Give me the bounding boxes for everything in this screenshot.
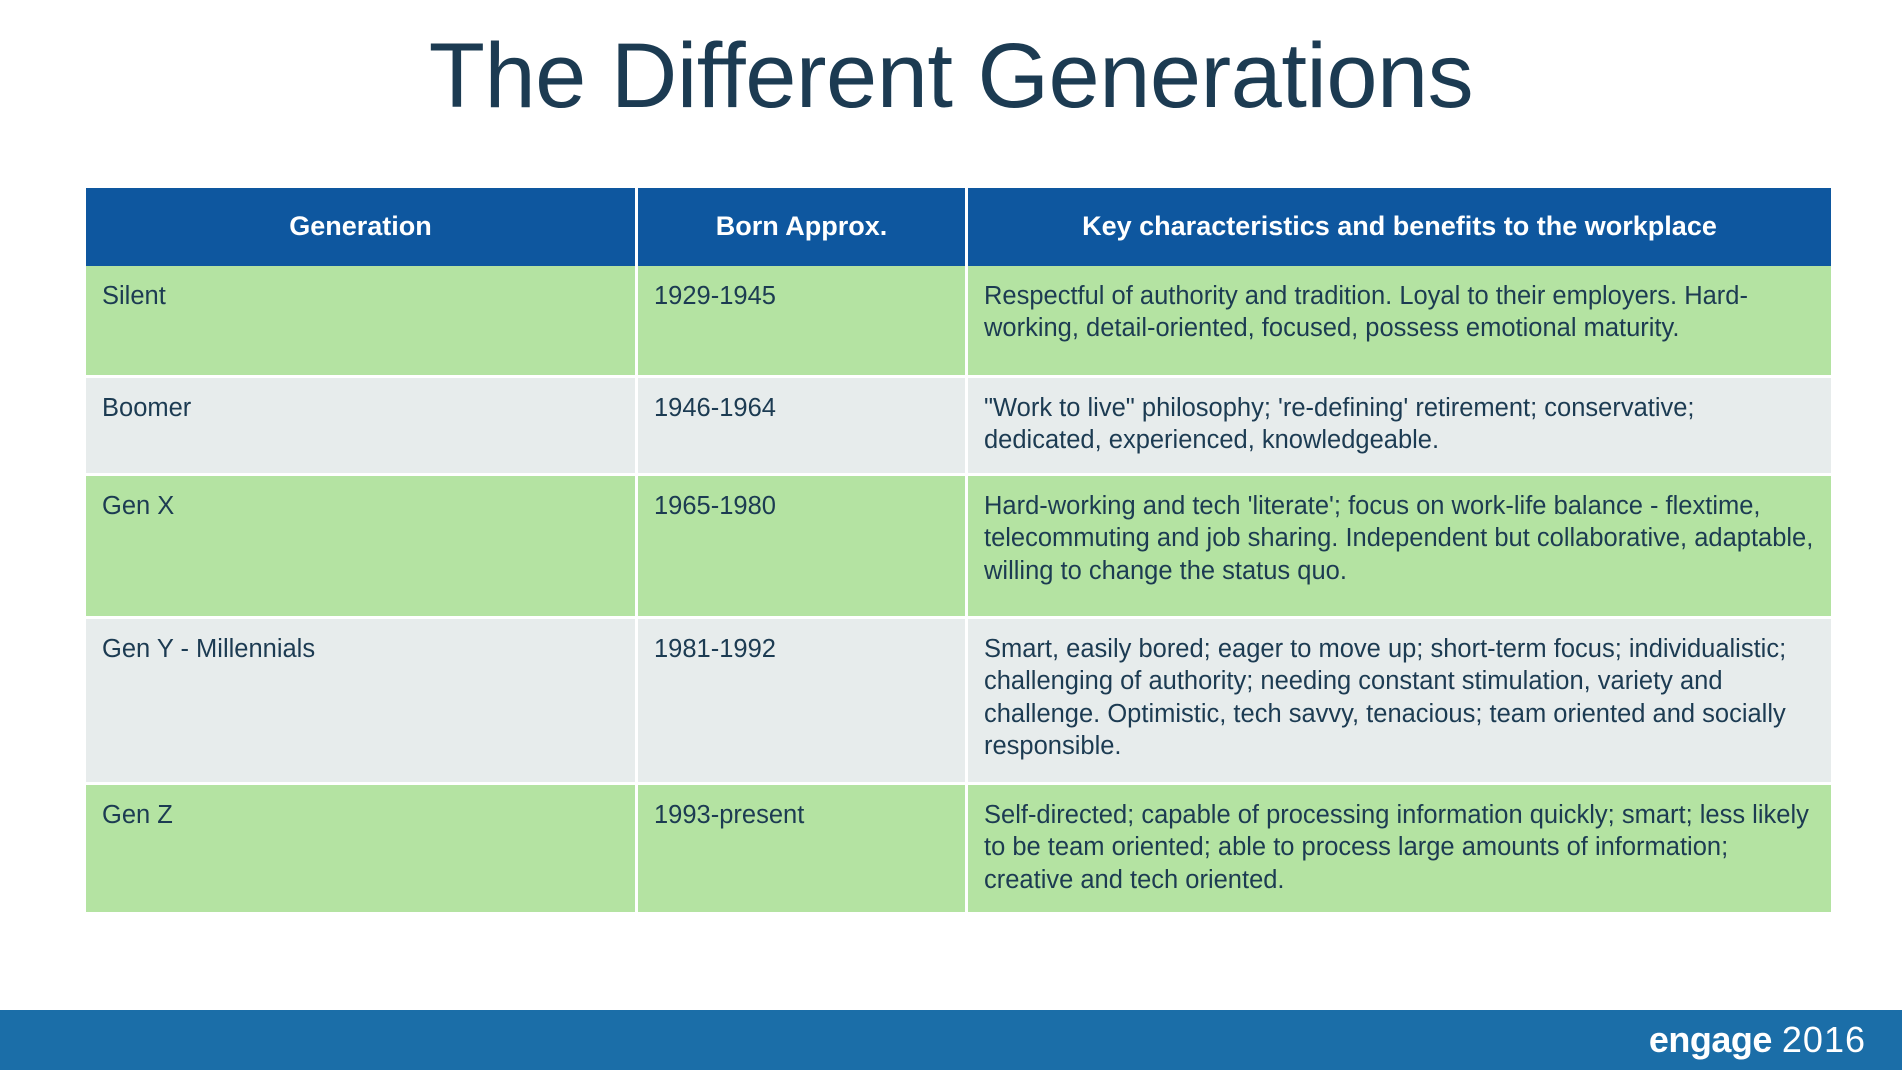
footer-brand: engage 2016 [1649,1018,1866,1062]
cell-key-characteristics: Respectful of authority and tradition. L… [968,266,1831,378]
footer-bar [0,1010,1902,1070]
table-row: Gen Z 1993-present Self-directed; capabl… [86,785,1831,912]
table-row: Gen X 1965-1980 Hard-working and tech 'l… [86,476,1831,619]
table-header-row: Generation Born Approx. Key characterist… [86,188,1831,266]
cell-key-characteristics: Smart, easily bored; eager to move up; s… [968,619,1831,785]
table-body: Silent 1929-1945 Respectful of authority… [86,266,1831,912]
cell-generation: Boomer [86,378,638,476]
table-row: Silent 1929-1945 Respectful of authority… [86,266,1831,378]
cell-key-characteristics: Self-directed; capable of processing inf… [968,785,1831,912]
brand-year: 2016 [1782,1022,1866,1058]
column-header-generation: Generation [86,188,638,266]
cell-born-approx: 1965-1980 [638,476,968,619]
cell-generation: Silent [86,266,638,378]
cell-born-approx: 1946-1964 [638,378,968,476]
cell-key-characteristics: Hard-working and tech 'literate'; focus … [968,476,1831,619]
generations-table: Generation Born Approx. Key characterist… [86,188,1831,912]
cell-born-approx: 1993-present [638,785,968,912]
cell-generation: Gen X [86,476,638,619]
column-header-key-characteristics: Key characteristics and benefits to the … [968,188,1831,266]
slide-canvas: The Different Generations Generation Bor… [0,0,1902,1070]
table-row: Boomer 1946-1964 "Work to live" philosop… [86,378,1831,476]
table-header: Generation Born Approx. Key characterist… [86,188,1831,266]
cell-born-approx: 1929-1945 [638,266,968,378]
brand-name: engage [1649,1022,1772,1058]
cell-generation: Gen Z [86,785,638,912]
column-header-born-approx: Born Approx. [638,188,968,266]
table-row: Gen Y - Millennials 1981-1992 Smart, eas… [86,619,1831,785]
cell-born-approx: 1981-1992 [638,619,968,785]
cell-generation: Gen Y - Millennials [86,619,638,785]
cell-key-characteristics: "Work to live" philosophy; 're-defining'… [968,378,1831,476]
page-title: The Different Generations [0,28,1902,125]
